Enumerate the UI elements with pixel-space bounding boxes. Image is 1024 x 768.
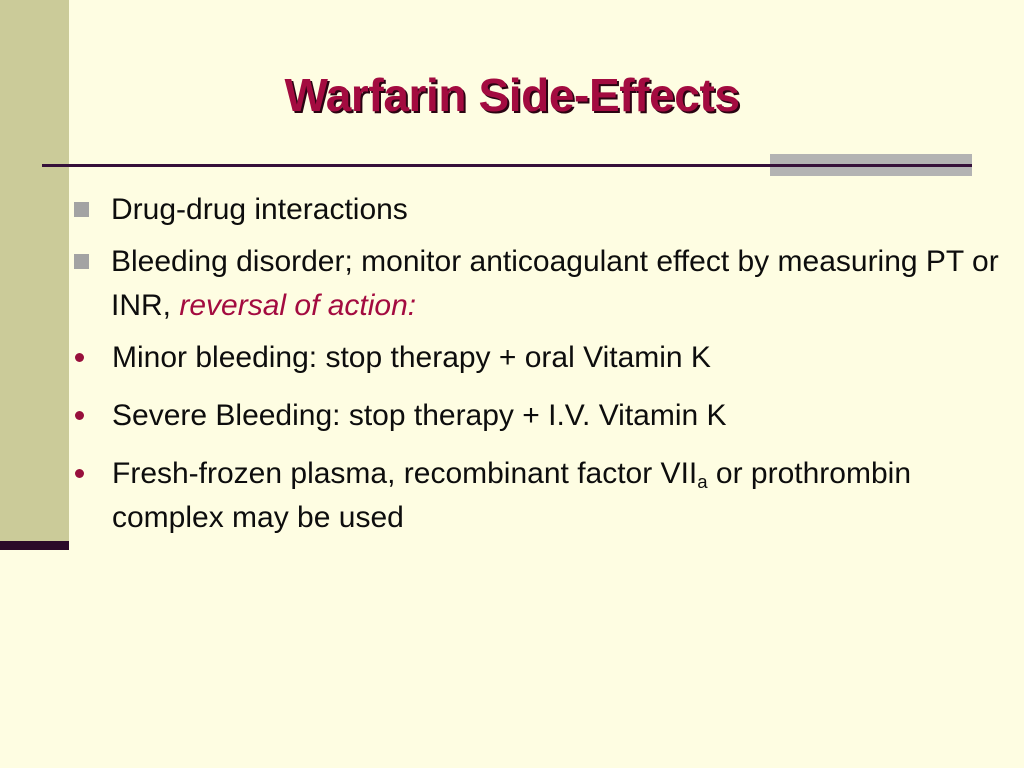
dot-bullet-icon	[75, 353, 84, 362]
bullet-list: Drug-drug interactions Bleeding disorder…	[68, 188, 1008, 554]
list-item: Minor bleeding: stop therapy + oral Vita…	[68, 336, 1008, 380]
header-divider-line	[42, 164, 972, 167]
square-bullet-icon	[74, 254, 89, 269]
slide-canvas: Warfarin Side-Effects Drug-drug interact…	[0, 0, 1024, 768]
list-item: Drug-drug interactions	[68, 188, 1008, 232]
square-bullet-icon	[74, 202, 89, 217]
emphasis-text: reversal of action:	[179, 289, 416, 322]
list-item-text: Bleeding disorder; monitor anticoagulant…	[111, 240, 1008, 328]
list-item-text: Minor bleeding: stop therapy + oral Vita…	[112, 336, 1008, 380]
slide-title: Warfarin Side-Effects	[0, 68, 1024, 122]
dot-bullet-icon	[75, 411, 84, 420]
list-item: Fresh-frozen plasma, recombinant factor …	[68, 452, 1008, 540]
left-band-footer-bar	[0, 541, 69, 550]
subscript-a: a	[697, 471, 707, 492]
list-item-text: Fresh-frozen plasma, recombinant factor …	[112, 452, 1008, 540]
list-item: Bleeding disorder; monitor anticoagulant…	[68, 240, 1008, 328]
list-item-text: Drug-drug interactions	[111, 188, 1008, 232]
list-item-text: Severe Bleeding: stop therapy + I.V. Vit…	[112, 394, 1008, 438]
list-item: Severe Bleeding: stop therapy + I.V. Vit…	[68, 394, 1008, 438]
dot-bullet-icon	[75, 469, 84, 478]
